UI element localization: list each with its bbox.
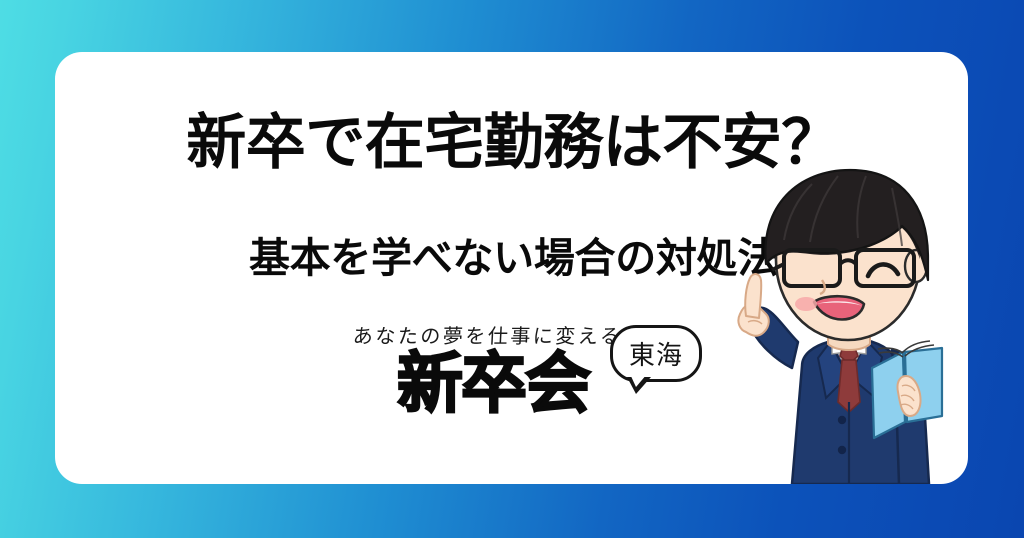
logo-region-badge-label: 東海 [613,328,699,379]
logo-wordmark: 新卒会 [397,350,589,416]
character-illustration [706,154,968,484]
poster-canvas: 新卒で在宅勤務は不安？ 基本を学べない場合の対処法 あなたの夢を仕事に変える 新… [0,0,1024,538]
brand-logo: あなたの夢を仕事に変える 新卒会 東海 [345,320,745,445]
logo-tagline: あなたの夢を仕事に変える [352,320,623,349]
speech-bubble-tail-icon [627,377,651,394]
content-card: 新卒で在宅勤務は不安？ 基本を学べない場合の対処法 あなたの夢を仕事に変える 新… [55,52,968,484]
logo-region-badge: 東海 [610,325,702,382]
